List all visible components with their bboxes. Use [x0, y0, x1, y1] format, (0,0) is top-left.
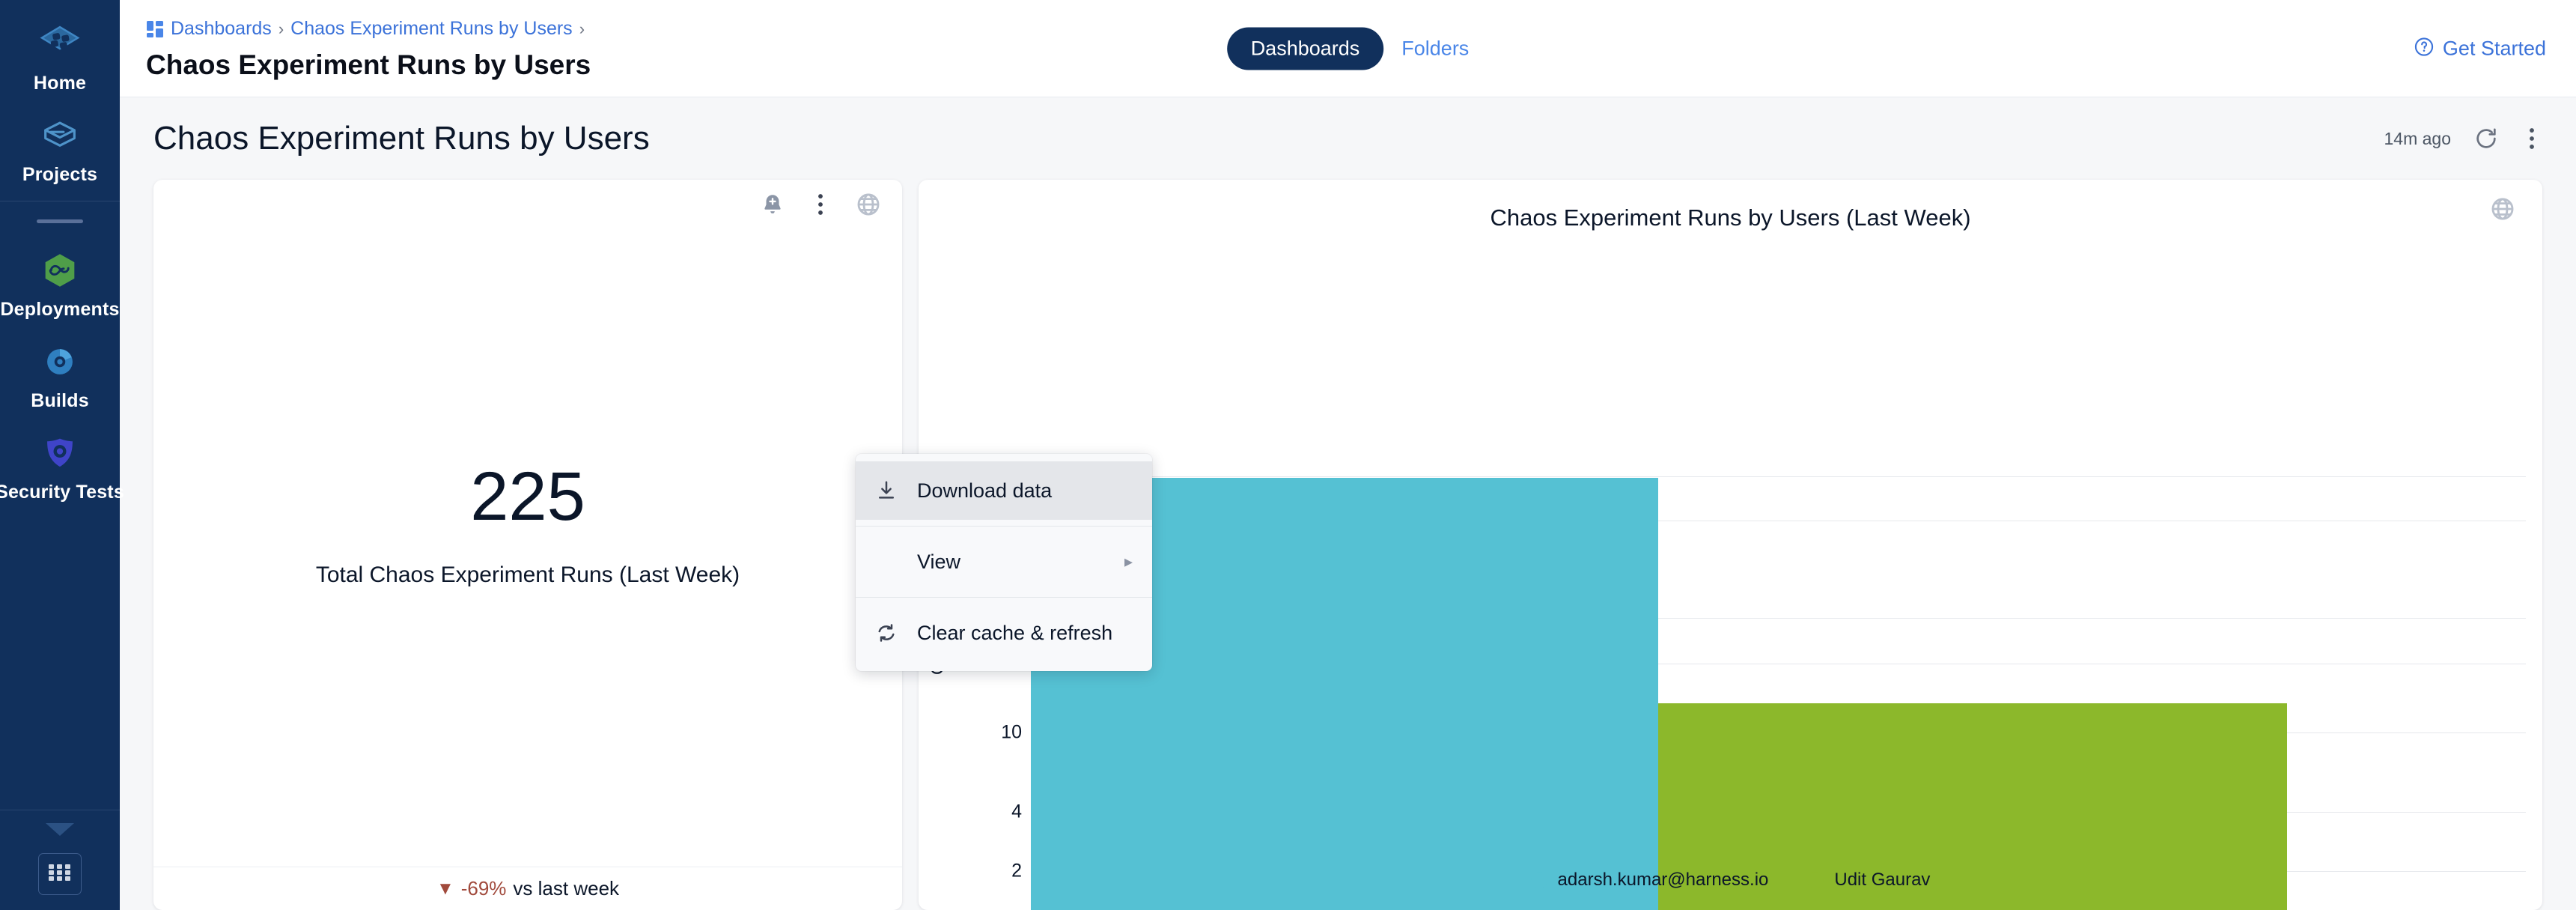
tile-context-menu: Download data View ▸: [856, 454, 1152, 671]
sidebar-footer: [0, 810, 120, 910]
gridline: [1031, 476, 2526, 477]
dashboard-title: Chaos Experiment Runs by Users: [153, 120, 650, 157]
kebab-menu-icon[interactable]: [808, 192, 833, 217]
dashboard-actions: 14m ago: [2384, 126, 2542, 151]
sidebar-item-label: Home: [34, 73, 86, 94]
add-alert-icon[interactable]: [760, 192, 785, 217]
main-sidebar: Home Projects Deployments: [0, 0, 120, 910]
builds-gear-icon: [37, 339, 83, 385]
dashboard-tiles: 225 Total Chaos Experiment Runs (Last We…: [120, 180, 2576, 910]
y-tick: 10: [954, 722, 1022, 744]
sidebar-item-builds[interactable]: Builds: [0, 328, 120, 419]
legend-color-swatch: [1531, 872, 1547, 888]
sidebar-item-projects[interactable]: Projects: [0, 102, 120, 193]
tab-folders[interactable]: Folders: [1401, 37, 1469, 60]
kpi-trend: ▼ -69% vs last week: [153, 867, 902, 910]
top-header: Dashboards › Chaos Experiment Runs by Us…: [120, 0, 2576, 97]
get-started-label: Get Started: [2443, 37, 2546, 60]
context-menu-label: Clear cache & refresh: [917, 622, 1133, 645]
legend-item-0[interactable]: adarsh.kumar@harness.io: [1531, 870, 1769, 891]
legend-color-swatch: [1807, 872, 1824, 888]
context-menu-item-download-data[interactable]: Download data: [856, 461, 1152, 520]
chart-plot-area: Chaos Experiment Runs 200 100 40 20 10 4…: [919, 244, 2542, 910]
page-title: Chaos Experiment Runs by Users: [146, 49, 591, 81]
dashboard-grid-icon: [146, 20, 164, 38]
legend-label: adarsh.kumar@harness.io: [1558, 870, 1769, 891]
trend-value: -69%: [461, 877, 507, 900]
chart-title: Chaos Experiment Runs by Users (Last Wee…: [919, 180, 2542, 231]
tile-total-runs: 225 Total Chaos Experiment Runs (Last We…: [153, 180, 902, 910]
sidebar-divider: [0, 201, 120, 201]
deployments-infinity-icon: [37, 247, 83, 294]
refresh-cycle-icon: [875, 622, 917, 644]
tile-runs-by-users-chart: Chaos Experiment Runs by Users (Last Wee…: [919, 180, 2542, 910]
kpi-body: 225 Total Chaos Experiment Runs (Last We…: [153, 180, 902, 910]
sidebar-item-label: Security Tests: [0, 482, 124, 503]
sidebar-item-label: Builds: [31, 390, 89, 412]
breadcrumb-item-dashboards[interactable]: Dashboards: [171, 18, 272, 40]
chevron-right-icon: ▸: [1124, 552, 1133, 571]
tab-dashboards[interactable]: Dashboards: [1227, 27, 1384, 70]
context-menu-label: View: [875, 550, 1124, 574]
breadcrumb-item-current[interactable]: Chaos Experiment Runs by Users: [290, 18, 573, 40]
download-icon: [875, 479, 917, 502]
sidebar-item-label: Deployments: [0, 299, 119, 321]
app-root: Home Projects Deployments: [0, 0, 2576, 910]
sidebar-item-deployments[interactable]: Deployments: [0, 237, 120, 328]
context-menu-divider: [856, 597, 1152, 598]
breadcrumb: Dashboards › Chaos Experiment Runs by Us…: [146, 16, 591, 42]
sidebar-item-home[interactable]: Home: [0, 10, 120, 102]
security-shield-icon: [37, 430, 83, 476]
projects-box-icon: [37, 112, 83, 159]
sidebar-section-handle: [37, 219, 83, 223]
sidebar-item-label: Projects: [22, 164, 97, 186]
kebab-menu-icon[interactable]: [2521, 126, 2542, 151]
kpi-value: 225: [470, 462, 585, 531]
app-grid-icon: [47, 862, 73, 887]
help-circle-icon: [2414, 36, 2435, 61]
chart-grid-area: Dec 4 Week: [1031, 244, 2526, 910]
kpi-caption: Total Chaos Experiment Runs (Last Week): [316, 562, 740, 588]
trend-down-icon: ▼: [436, 879, 454, 900]
chevron-down-icon: [43, 829, 77, 842]
dashboard-header: Chaos Experiment Runs by Users 14m ago: [120, 97, 2576, 180]
legend-label: Udit Gaurav: [1834, 870, 1930, 891]
tile-toolbar: [760, 192, 881, 217]
context-menu-item-clear-cache-refresh[interactable]: Clear cache & refresh: [856, 604, 1152, 662]
header-left: Dashboards › Chaos Experiment Runs by Us…: [120, 16, 591, 81]
breadcrumb-separator: ›: [579, 19, 585, 39]
globe-icon[interactable]: [2490, 196, 2515, 222]
globe-icon[interactable]: [856, 192, 881, 217]
y-tick: 4: [954, 801, 1022, 823]
breadcrumb-separator: ›: [278, 19, 284, 39]
sidebar-collapse-button[interactable]: [43, 810, 77, 853]
context-menu-label: Download data: [917, 479, 1133, 503]
get-started-button[interactable]: Get Started: [2414, 36, 2546, 61]
context-menu-item-view[interactable]: View ▸: [856, 533, 1152, 591]
refresh-icon[interactable]: [2473, 126, 2499, 151]
last-refreshed-label: 14m ago: [2384, 129, 2451, 149]
home-cube-icon: [37, 21, 83, 67]
context-menu-divider: [856, 526, 1152, 527]
chart-legend: adarsh.kumar@harness.io Udit Gaurav: [919, 870, 2542, 891]
header-tabs: Dashboards Folders: [1227, 27, 1470, 70]
trend-suffix: vs last week: [513, 877, 619, 900]
main-content: Dashboards › Chaos Experiment Runs by Us…: [120, 0, 2576, 910]
legend-item-1[interactable]: Udit Gaurav: [1807, 870, 1930, 891]
sidebar-item-security-tests[interactable]: Security Tests: [0, 419, 120, 511]
app-launcher-button[interactable]: [38, 853, 82, 895]
